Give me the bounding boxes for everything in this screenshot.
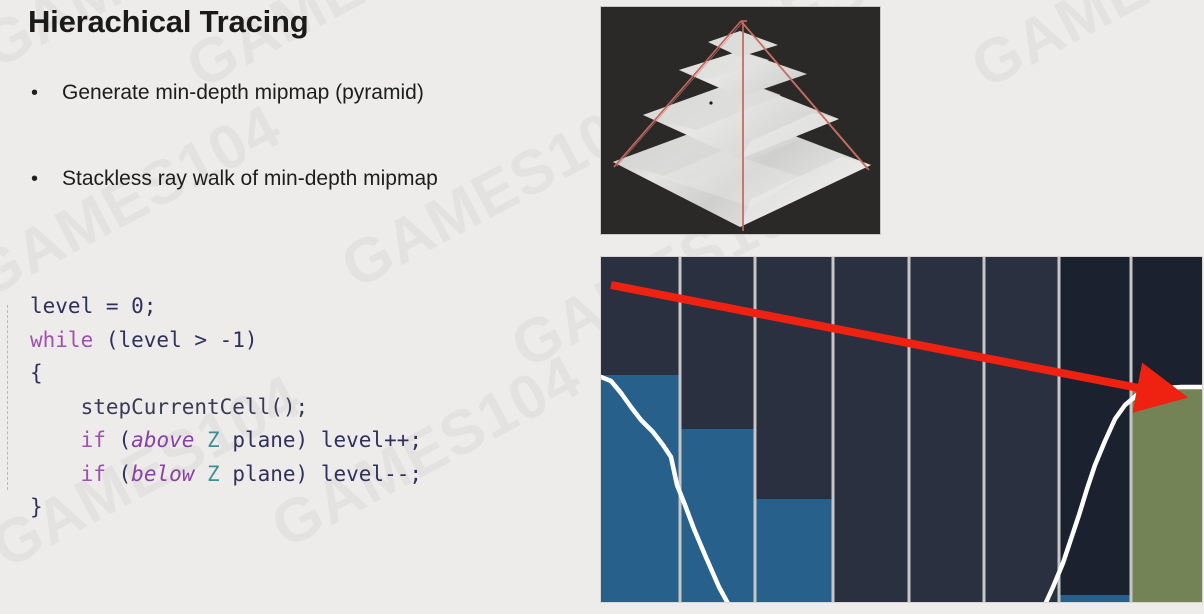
code-token: level = 0;	[30, 294, 156, 318]
sample-point-dot	[709, 101, 712, 104]
bullet-list: • Generate min-depth mipmap (pyramid) • …	[28, 80, 588, 252]
hiz-cell	[1059, 257, 1131, 602]
code-line: if (below Z plane) level--;	[30, 458, 422, 492]
bullet-marker-icon: •	[28, 80, 62, 106]
hiz-cell	[984, 257, 1059, 602]
code-token	[194, 428, 207, 452]
hiz-cell-mindepth-fill	[1059, 595, 1131, 602]
code-token	[30, 428, 81, 452]
code-token: stepCurrentCell();	[30, 395, 308, 419]
code-token: (	[106, 428, 131, 452]
code-token	[194, 462, 207, 486]
hiz-cell	[833, 257, 909, 602]
code-token: if	[81, 462, 106, 486]
code-token: }	[30, 495, 43, 519]
list-item: • Generate min-depth mipmap (pyramid)	[28, 80, 588, 106]
pyramid-svg	[601, 7, 880, 234]
code-token: below	[131, 462, 194, 486]
code-token: while	[30, 328, 93, 352]
code-indent-guide	[7, 305, 9, 490]
code-token	[30, 462, 81, 486]
hiz-ray-walk-figure	[601, 257, 1202, 602]
code-token: plane) level++;	[220, 428, 422, 452]
list-item: • Stackless ray walk of min-depth mipmap	[28, 166, 588, 192]
watermark-text: GAMES104	[960, 0, 1204, 103]
code-token: plane) level--;	[220, 462, 422, 486]
code-line: stepCurrentCell();	[30, 391, 422, 425]
code-token: Z	[207, 462, 220, 486]
code-token: {	[30, 361, 43, 385]
code-line: while (level > -1)	[30, 324, 422, 358]
min-depth-mipmap-pyramid-figure	[601, 7, 880, 234]
hiz-cell-mindepth-fill	[601, 375, 680, 602]
code-line: }	[30, 491, 422, 525]
bullet-marker-icon: •	[28, 166, 62, 192]
page-title: Hierachical Tracing	[28, 4, 309, 40]
code-token: above	[131, 428, 194, 452]
code-token: (	[106, 462, 131, 486]
code-token: if	[81, 428, 106, 452]
code-line: if (above Z plane) level++;	[30, 424, 422, 458]
bullet-text: Generate min-depth mipmap (pyramid)	[62, 80, 424, 106]
code-token: Z	[207, 428, 220, 452]
code-line: level = 0;	[30, 290, 422, 324]
hiz-cell-mindepth-fill	[755, 499, 833, 602]
hiz-cell-hit-fill	[1131, 387, 1202, 602]
code-line: {	[30, 357, 422, 391]
code-token: (level > -1)	[93, 328, 257, 352]
hiz-cell	[909, 257, 984, 602]
code-block: level = 0;while (level > -1){ stepCurren…	[30, 290, 422, 525]
hiz-svg	[601, 257, 1202, 602]
bullet-text: Stackless ray walk of min-depth mipmap	[62, 166, 438, 192]
